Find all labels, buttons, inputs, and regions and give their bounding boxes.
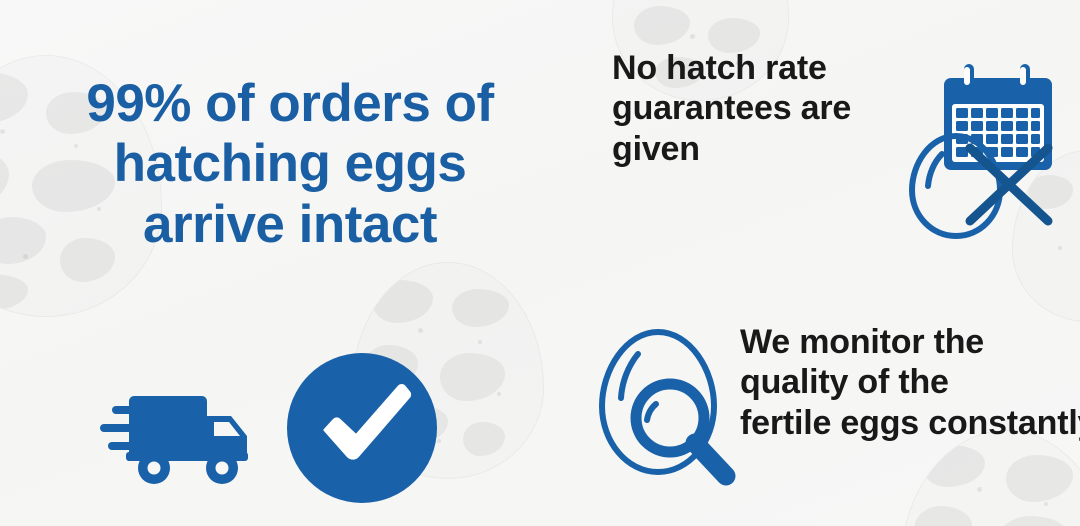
- headline-line-2: hatching eggs: [40, 134, 540, 194]
- monitor-line-1: We monitor the: [740, 322, 1080, 362]
- calendar-egg-cross-icon: [908, 56, 1058, 246]
- headline-line-1: 99% of orders of: [40, 74, 540, 134]
- monitor-line-2: quality of the: [740, 362, 1080, 402]
- infographic-canvas: 99% of orders of hatching eggs arrive in…: [0, 0, 1080, 526]
- no-hatch-guarantee-text: No hatch rate guarantees are given: [612, 48, 900, 169]
- no-hatch-line-2: guarantees are: [612, 88, 900, 128]
- check-circle-icon: [286, 352, 438, 504]
- delivery-truck-icon: [100, 380, 280, 490]
- egg-magnifier-icon: [596, 326, 746, 491]
- quality-monitoring-text: We monitor the quality of the fertile eg…: [740, 322, 1080, 443]
- no-hatch-guarantee-block: No hatch rate guarantees are given: [612, 48, 1080, 248]
- page-title: 99% of orders of hatching eggs arrive in…: [40, 74, 540, 255]
- right-column: No hatch rate guarantees are given: [580, 0, 1080, 526]
- left-column: 99% of orders of hatching eggs arrive in…: [0, 0, 580, 526]
- no-hatch-line-3: given: [612, 129, 900, 169]
- left-icon-row: [96, 352, 456, 502]
- no-hatch-line-1: No hatch rate: [612, 48, 900, 88]
- quality-monitoring-block: We monitor the quality of the fertile eg…: [588, 316, 1080, 506]
- headline-line-3: arrive intact: [40, 195, 540, 255]
- monitor-line-3: fertile eggs constantly: [740, 403, 1080, 443]
